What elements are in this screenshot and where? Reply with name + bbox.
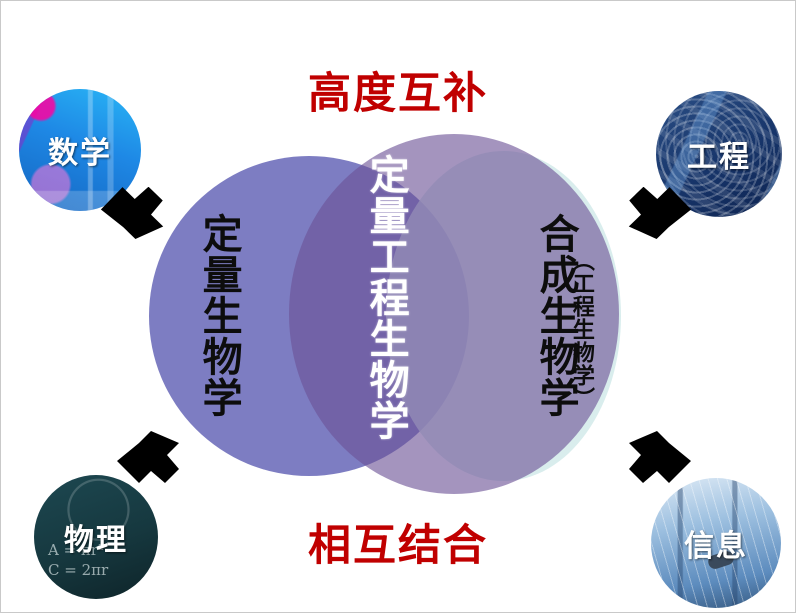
venn-sublabel-engineering-biology: （工程生物学）	[569, 249, 592, 410]
discipline-bubble-math-label: 数学	[19, 128, 141, 172]
physics-formula-circumference: C = 2πr	[48, 561, 108, 579]
discipline-bubble-information: 信息	[651, 478, 781, 608]
slide-canvas: 高度互补 相互结合 定量生物学 定量工程生物学 合成生物学 （工程生物学） 数学…	[0, 0, 796, 613]
arrow-down-right-icon	[97, 187, 167, 257]
arrow-down-left-icon	[623, 187, 695, 259]
arrow-up-right-icon	[113, 413, 183, 483]
discipline-bubble-physics: A = πr² C = 2πr 物理	[34, 475, 158, 599]
discipline-bubble-engineering-label: 工程	[656, 132, 782, 176]
venn-label-quantitative-engineering-biology: 定量工程生物学	[364, 154, 406, 441]
discipline-bubble-physics-label: 物理	[34, 515, 158, 559]
discipline-bubble-information-label: 信息	[651, 521, 781, 565]
arrow-up-left-icon	[623, 413, 695, 485]
venn-label-quantitative-biology: 定量生物学	[197, 213, 239, 418]
